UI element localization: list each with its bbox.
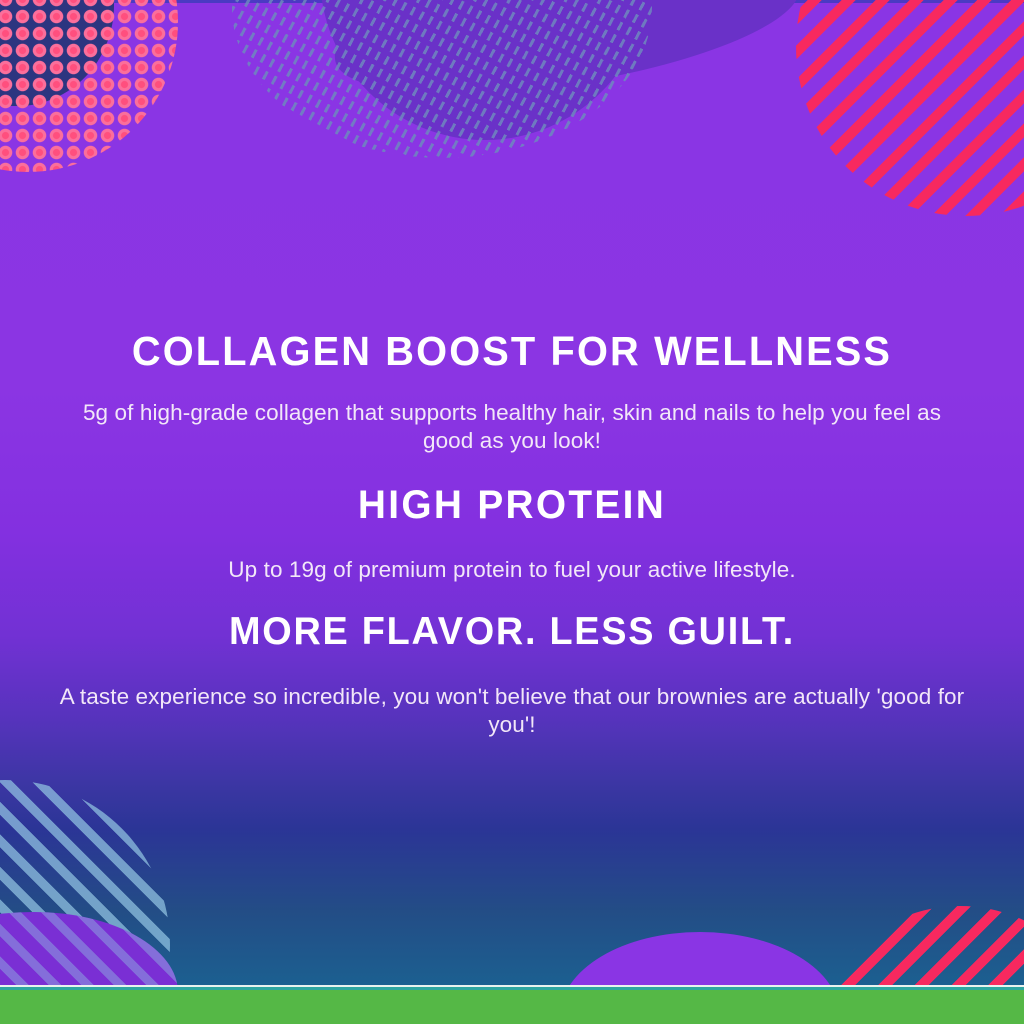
section-heading-flavor: MORE FLAVOR. LESS GUILT.: [70, 612, 955, 653]
footer-green-bar: [0, 990, 1024, 1024]
promo-poster: COLLAGEN BOOST FOR WELLNESS 5g of high-g…: [0, 0, 1024, 1024]
section-heading-protein: HIGH PROTEIN: [70, 484, 955, 526]
content-stack: COLLAGEN BOOST FOR WELLNESS 5g of high-g…: [0, 330, 1024, 740]
section-heading-collagen: COLLAGEN BOOST FOR WELLNESS: [70, 330, 955, 373]
section-body-flavor: A taste experience so incredible, you wo…: [56, 683, 968, 740]
section-body-collagen: 5g of high-grade collagen that supports …: [56, 399, 968, 456]
top-edge-line: [0, 0, 1024, 3]
section-body-protein: Up to 19g of premium protein to fuel you…: [56, 556, 968, 584]
